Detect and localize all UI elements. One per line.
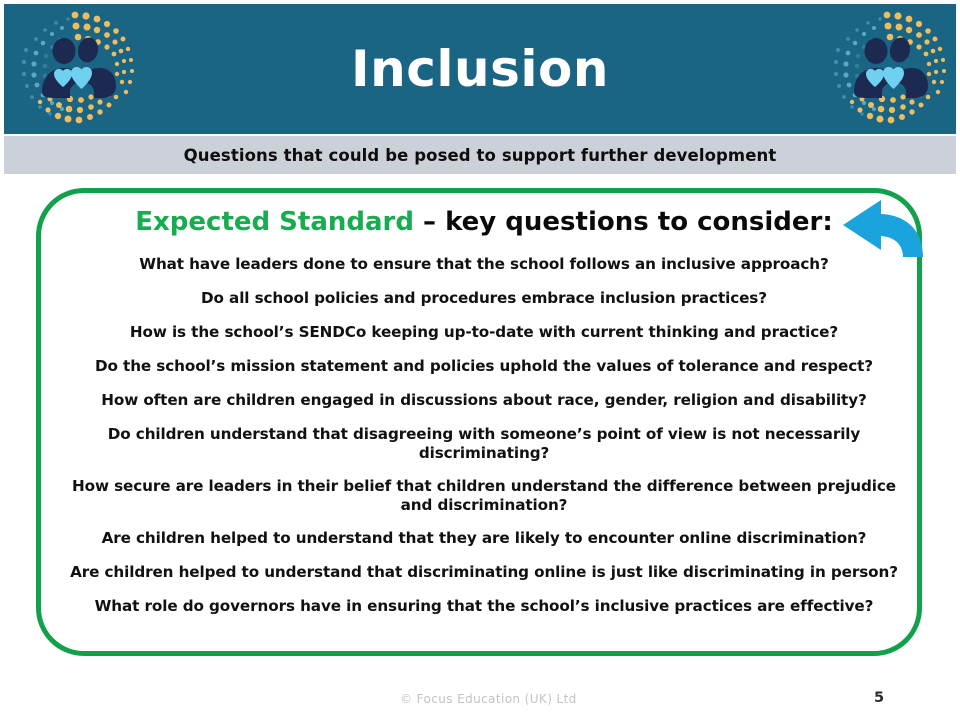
expected-standard-panel: Expected Standard – key questions to con… — [36, 188, 922, 656]
subtitle-bar: Questions that could be posed to support… — [4, 136, 956, 174]
page-number: 5 — [874, 690, 884, 706]
slide-root: Inclusion — [0, 0, 960, 720]
subtitle-text: Questions that could be posed to support… — [184, 146, 777, 165]
question-line: Do the school’s mission statement and po… — [59, 357, 909, 376]
question-line: Do children understand that disagreeing … — [59, 425, 909, 463]
question-list: What have leaders done to ensure that th… — [59, 255, 909, 631]
panel-heading-emphasis: Expected Standard — [135, 207, 414, 237]
panel-heading-rest: – key questions to consider: — [414, 207, 833, 237]
question-line: Are children helped to understand that t… — [59, 529, 909, 548]
focus-education-logo-left — [12, 6, 138, 132]
question-line: What have leaders done to ensure that th… — [59, 255, 909, 274]
question-line: Are children helped to understand that d… — [59, 563, 909, 582]
question-line: What role do governors have in ensuring … — [59, 597, 909, 616]
page-title: Inclusion — [4, 4, 956, 134]
question-line: Do all school policies and procedures em… — [59, 289, 909, 308]
focus-education-logo-right — [824, 6, 950, 132]
footer-copyright: © Focus Education (UK) Ltd — [400, 692, 577, 706]
panel-heading: Expected Standard – key questions to con… — [41, 207, 927, 237]
question-line: How often are children engaged in discus… — [59, 391, 909, 410]
question-line: How secure are leaders in their belief t… — [59, 477, 909, 515]
question-line: How is the school’s SENDCo keeping up-to… — [59, 323, 909, 342]
header-band: Inclusion — [4, 4, 956, 134]
